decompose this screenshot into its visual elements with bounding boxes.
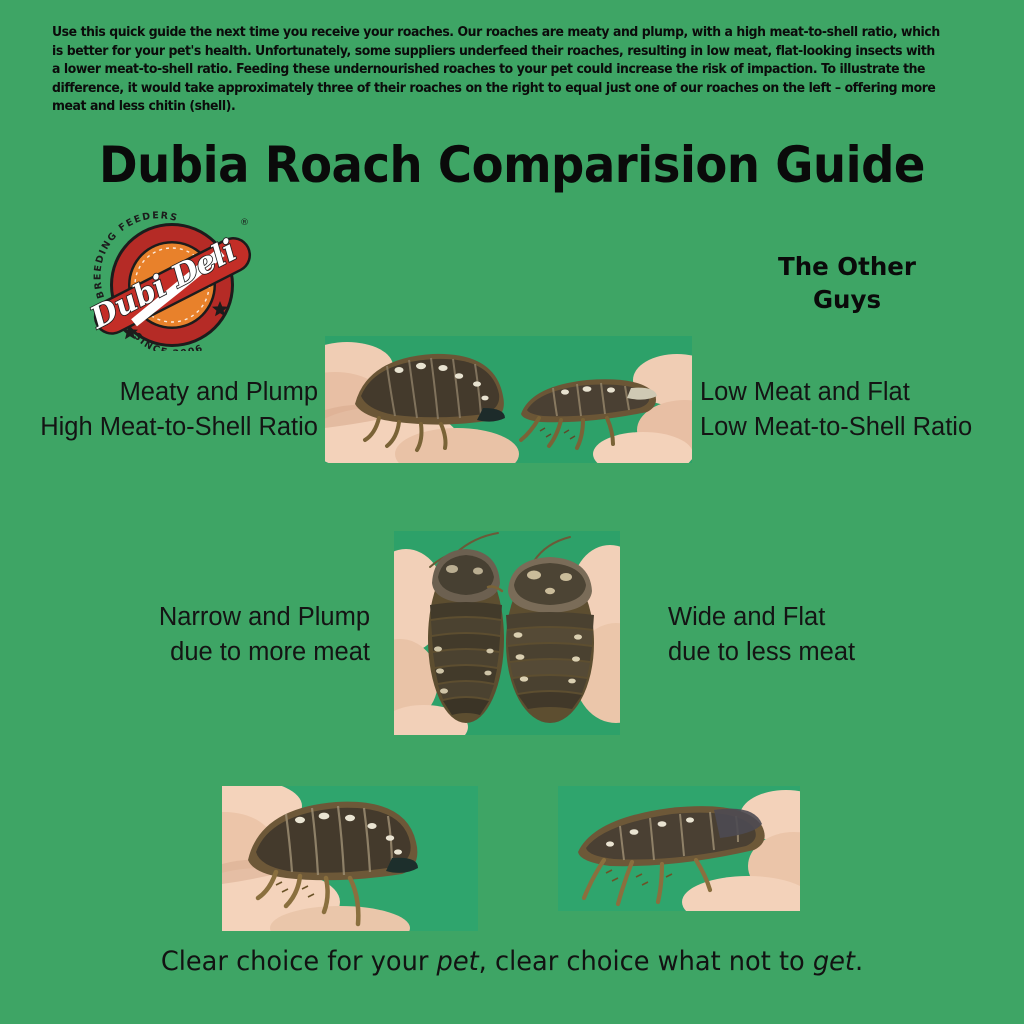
row1-left-caption-line-2: High Meat-to-Shell Ratio	[10, 410, 318, 445]
top-view-two-roaches-photo	[394, 531, 620, 735]
intro-paragraph: Use this quick guide the next time you r…	[52, 24, 940, 117]
footer-italic-get: get	[813, 946, 855, 977]
row1-right-caption-line-1: Low Meat and Flat	[700, 375, 1012, 410]
plump-roach-profile-photo	[222, 786, 478, 931]
footer-part-3: .	[855, 946, 863, 977]
footer-part-1: Clear choice for your	[161, 946, 437, 977]
side-view-two-roaches-photo	[325, 336, 692, 463]
row2-right-caption: Wide and Flat due to less meat	[668, 600, 978, 670]
row1-left-caption-line-1: Meaty and Plump	[10, 375, 318, 410]
footer-italic-pet: pet	[437, 946, 479, 977]
poster-canvas: Use this quick guide the next time you r…	[0, 0, 1024, 1024]
row2-left-caption-line-1: Narrow and Plump	[60, 600, 370, 635]
other-guys-line-1: The Other	[742, 250, 952, 283]
dubi-deli-logo: BREEDING FEEDERS SINCE 2006 Dubi Deli ®	[80, 207, 264, 351]
row1-right-caption: Low Meat and Flat Low Meat-to-Shell Rati…	[700, 375, 1012, 445]
other-guys-line-2: Guys	[742, 283, 952, 316]
row2-right-caption-line-1: Wide and Flat	[668, 600, 978, 635]
footer-caption: Clear choice for your pet, clear choice …	[26, 946, 999, 977]
flat-roach-profile-photo	[558, 786, 800, 911]
row2-left-caption-line-2: due to more meat	[60, 635, 370, 670]
other-guys-heading: The Other Guys	[742, 250, 952, 316]
logo-registered-mark-icon: ®	[240, 218, 249, 228]
row1-left-caption: Meaty and Plump High Meat-to-Shell Ratio	[10, 375, 318, 445]
footer-part-2: , clear choice what not to	[479, 946, 813, 977]
row2-left-caption: Narrow and Plump due to more meat	[60, 600, 370, 670]
row2-right-caption-line-2: due to less meat	[668, 635, 978, 670]
row1-right-caption-line-2: Low Meat-to-Shell Ratio	[700, 410, 1012, 445]
page-title: Dubia Roach Comparision Guide	[36, 136, 988, 194]
